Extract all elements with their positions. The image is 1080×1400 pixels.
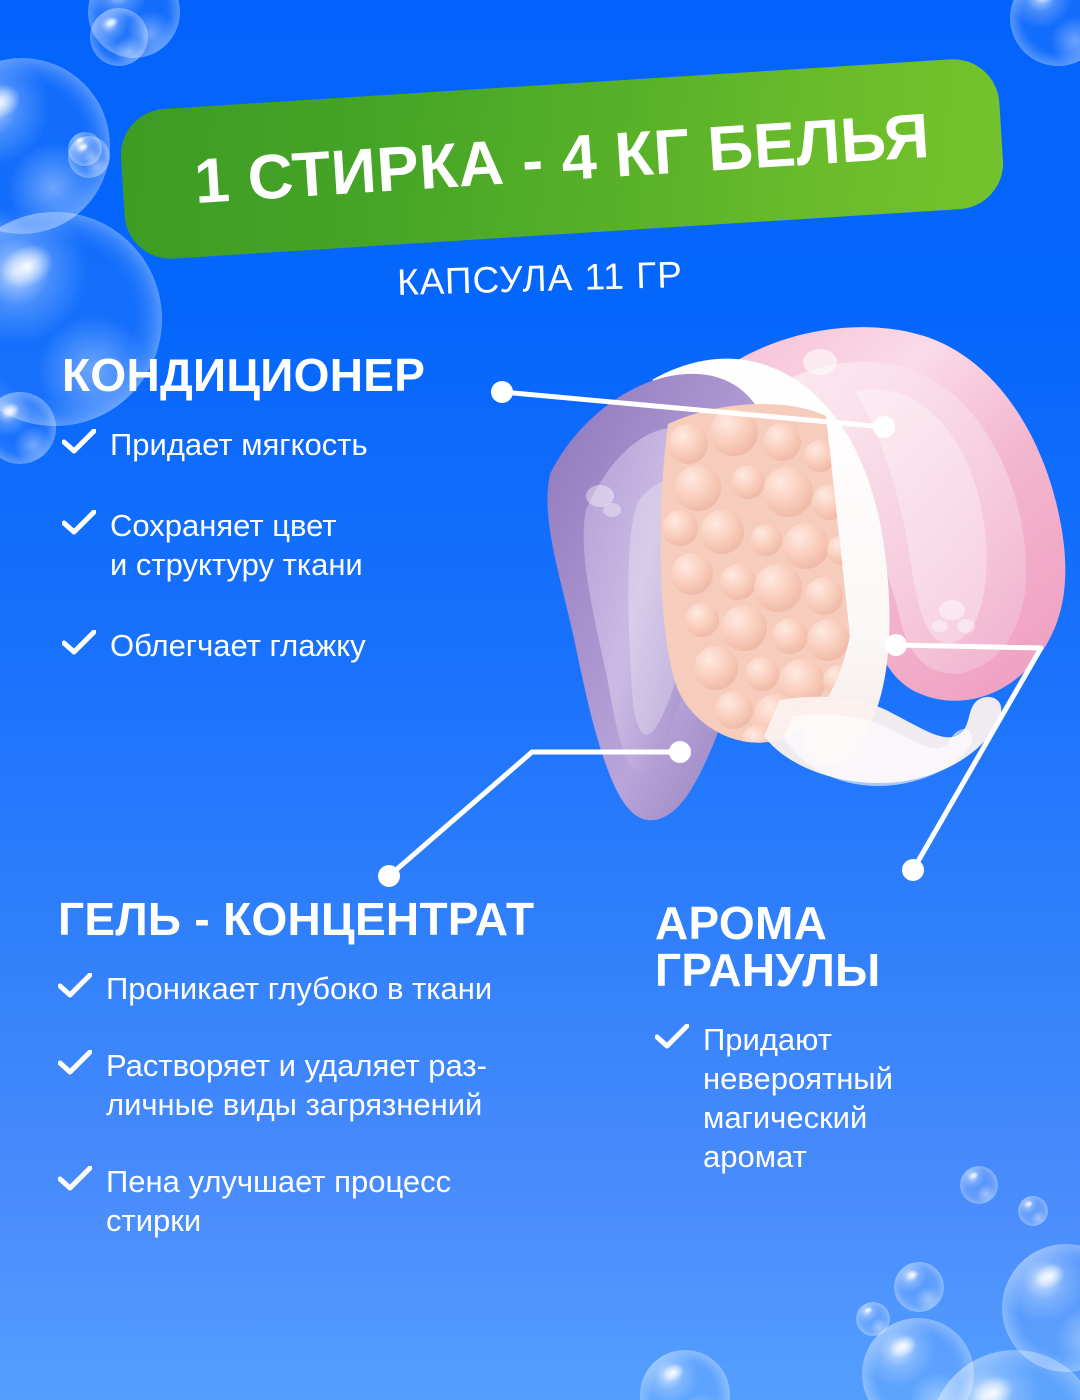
feature-item: Пена улучшает процесс стирки xyxy=(58,1162,618,1240)
bubble-icon xyxy=(856,1302,890,1336)
headline-text: 1 СТИРКА - 4 КГ БЕЛЬЯ xyxy=(192,104,931,213)
section-conditioner-heading: КОНДИЦИОНЕР xyxy=(62,352,502,399)
feature-item: Придает мягкость xyxy=(62,425,502,464)
feature-text: Облегчает глажку xyxy=(110,626,366,665)
section-aroma-granules: АРОМА ГРАНУЛЫ Придают невероятный магиче… xyxy=(655,900,985,1176)
feature-item: Сохраняет цвет и структуру ткани xyxy=(62,506,502,584)
section-gel-feature-list: Проникает глубоко в ткани Растворяет и у… xyxy=(58,969,618,1240)
section-aroma-feature-list: Придают невероятный магический аромат xyxy=(655,1020,985,1176)
feature-text: Растворяет и удаляет раз- личные виды за… xyxy=(106,1046,487,1124)
leader-dot-gel-label xyxy=(378,865,400,887)
bubble-icon xyxy=(1002,1244,1080,1372)
check-icon xyxy=(58,1050,92,1076)
check-icon xyxy=(655,1024,689,1050)
feature-text: Придает мягкость xyxy=(110,425,368,464)
section-gel-concentrate: ГЕЛЬ - КОНЦЕНТРАТ Проникает глубоко в тк… xyxy=(58,896,618,1278)
feature-text: Пена улучшает процесс стирки xyxy=(106,1162,451,1240)
feature-item: Придают невероятный магический аромат xyxy=(655,1020,985,1176)
feature-item: Облегчает глажку xyxy=(62,626,502,665)
check-icon xyxy=(62,429,96,455)
bubble-icon xyxy=(1018,1196,1048,1226)
infographic-poster: 1 СТИРКА - 4 КГ БЕЛЬЯ КАПСУЛА 11 ГР xyxy=(0,0,1080,1400)
check-icon xyxy=(62,630,96,656)
section-aroma-heading: АРОМА ГРАНУЛЫ xyxy=(655,900,985,994)
bubble-icon xyxy=(88,0,180,58)
feature-item: Проникает глубоко в ткани xyxy=(58,969,618,1008)
bubble-icon xyxy=(894,1262,944,1312)
bubble-icon xyxy=(0,392,56,464)
feature-text: Сохраняет цвет и структуру ткани xyxy=(110,506,363,584)
bubble-icon xyxy=(68,132,102,166)
bubble-icon xyxy=(1010,0,1080,66)
section-conditioner-feature-list: Придает мягкость Сохраняет цвет и структ… xyxy=(62,425,502,665)
laundry-capsule-image xyxy=(520,296,1080,866)
feature-item: Растворяет и удаляет раз- личные виды за… xyxy=(58,1046,618,1124)
bubble-icon xyxy=(640,1350,730,1400)
check-icon xyxy=(62,510,96,536)
section-conditioner: КОНДИЦИОНЕР Придает мягкость Сохраняет ц… xyxy=(62,352,502,707)
feature-text: Придают невероятный магический аромат xyxy=(703,1020,893,1176)
bubble-icon xyxy=(930,1350,1080,1400)
section-gel-heading: ГЕЛЬ - КОНЦЕНТРАТ xyxy=(58,896,618,943)
headline-banner: 1 СТИРКА - 4 КГ БЕЛЬЯ xyxy=(118,57,1006,262)
feature-text: Проникает глубоко в ткани xyxy=(106,969,492,1008)
check-icon xyxy=(58,1166,92,1192)
check-icon xyxy=(58,973,92,999)
bubble-icon xyxy=(68,136,110,178)
bubble-icon xyxy=(90,8,148,66)
bubble-icon xyxy=(0,58,110,234)
bubble-icon xyxy=(862,1318,974,1400)
